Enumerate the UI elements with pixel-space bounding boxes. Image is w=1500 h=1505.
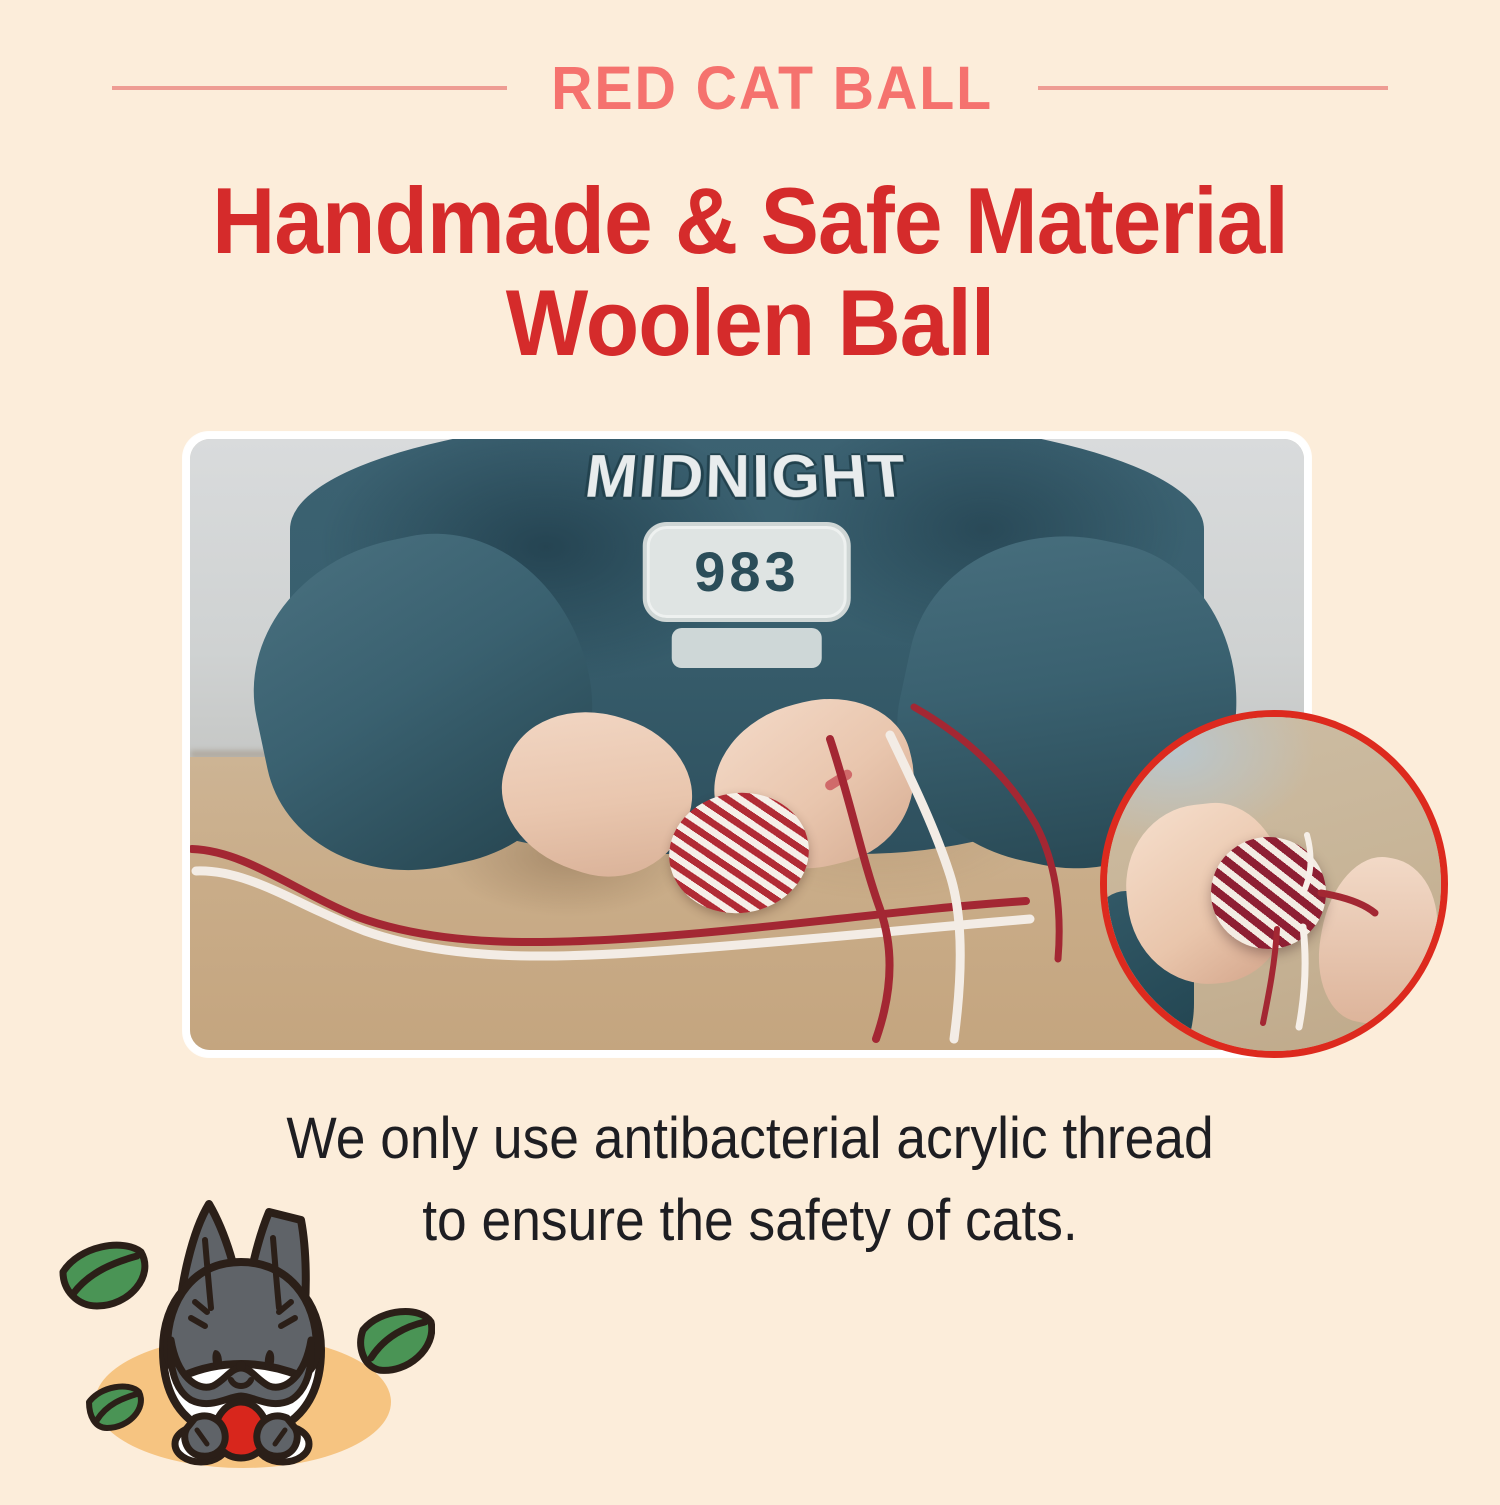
mascot-nose [236,1361,246,1371]
page-title: Handmade & Safe Material Woolen Ball [0,170,1500,373]
eyebrow-rule-left [112,86,507,90]
detail-inset-photo [1100,710,1448,1058]
body-line-1: We only use antibacterial acrylic thread [60,1098,1440,1180]
eyebrow-header: RED CAT BALL [0,52,1500,124]
headline-line-2: Woolen Ball [53,272,1448,374]
leaf-icon [63,1245,145,1306]
cat-mascot-illustration [45,1190,435,1500]
headline-line-1: Handmade & Safe Material [53,170,1448,272]
inset-yarn-strands [1107,717,1441,1051]
eyebrow-rule-right [1038,86,1388,90]
mascot-left-paw [185,1416,226,1456]
leaf-icon [361,1312,432,1371]
eyebrow-label: RED CAT BALL [552,58,994,119]
mascot-right-paw [257,1416,298,1456]
